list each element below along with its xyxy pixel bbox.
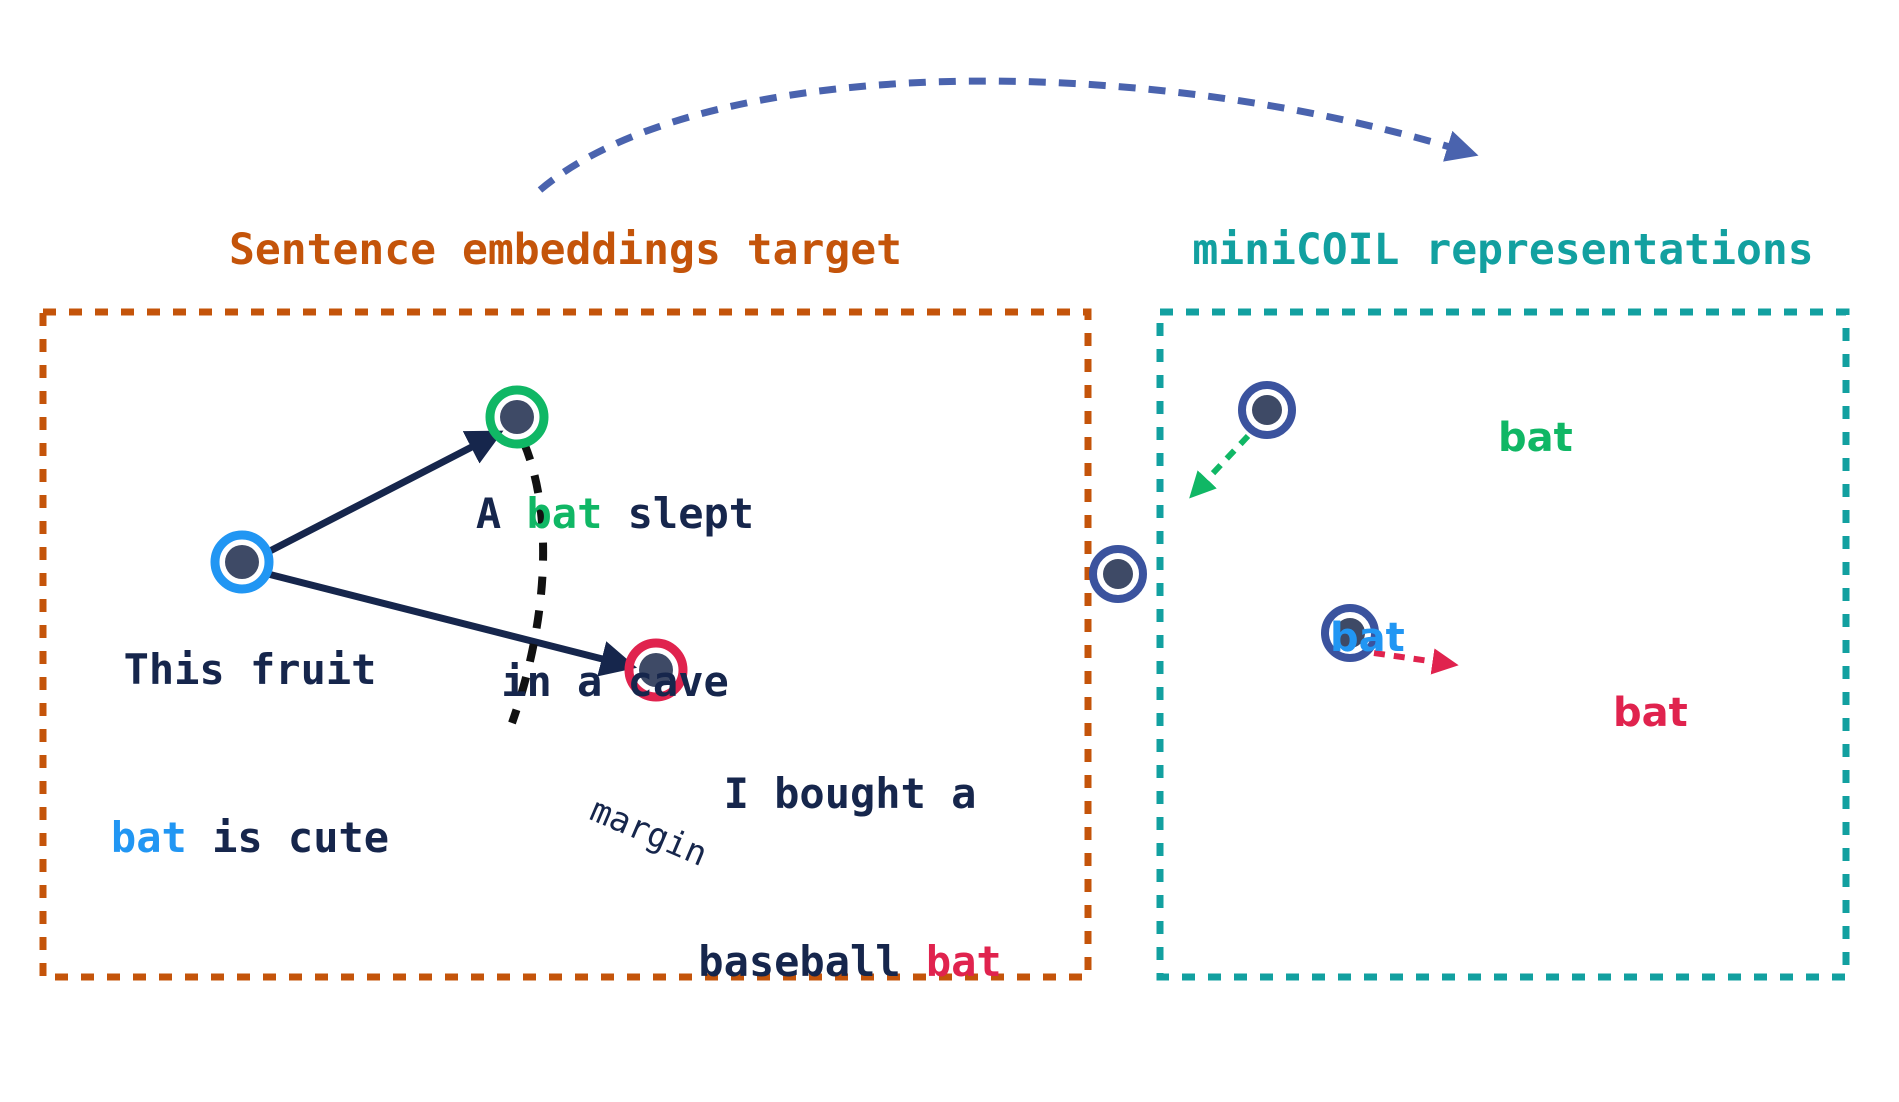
baseball-sentence: I bought a baseball bat <box>680 654 1020 1102</box>
fruit-sentence-line-2: bat is cute <box>90 810 410 866</box>
words-i-bought-a: I bought a <box>724 769 977 818</box>
token-arrow-green <box>1200 436 1248 487</box>
word-slept: slept <box>602 489 754 538</box>
cave-sentence-line-1: A bat slept <box>455 486 775 542</box>
panel-transition-arrow <box>540 81 1460 190</box>
token-bat-blue-inline: bat <box>111 813 187 862</box>
token-label-bat-blue: bat <box>1330 615 1405 661</box>
baseball-sentence-line-2: baseball bat <box>680 934 1020 990</box>
figure-canvas: Sentence embeddings target miniCOIL repr… <box>0 0 1899 1043</box>
word-baseball: baseball <box>698 937 926 986</box>
word-a: A <box>476 489 527 538</box>
token-marker-bat-blue[interactable] <box>1093 549 1143 599</box>
words-this-fruit: This fruit <box>124 645 377 694</box>
token-bat-red-inline: bat <box>926 937 1002 986</box>
token-label-bat-green: bat <box>1498 415 1573 461</box>
token-label-bat-red: bat <box>1613 690 1688 736</box>
words-is-cute: is cute <box>187 813 389 862</box>
fruit-sentence: This fruit bat is cute <box>90 530 410 978</box>
baseball-sentence-line-1: I bought a <box>680 766 1020 822</box>
token-marker-bat-green[interactable] <box>1242 385 1292 435</box>
left-panel-title: Sentence embeddings target <box>43 225 1088 275</box>
token-bat-green-inline: bat <box>527 489 603 538</box>
fruit-sentence-line-1: This fruit <box>90 642 410 698</box>
right-panel-title: miniCOIL representations <box>1160 225 1846 275</box>
